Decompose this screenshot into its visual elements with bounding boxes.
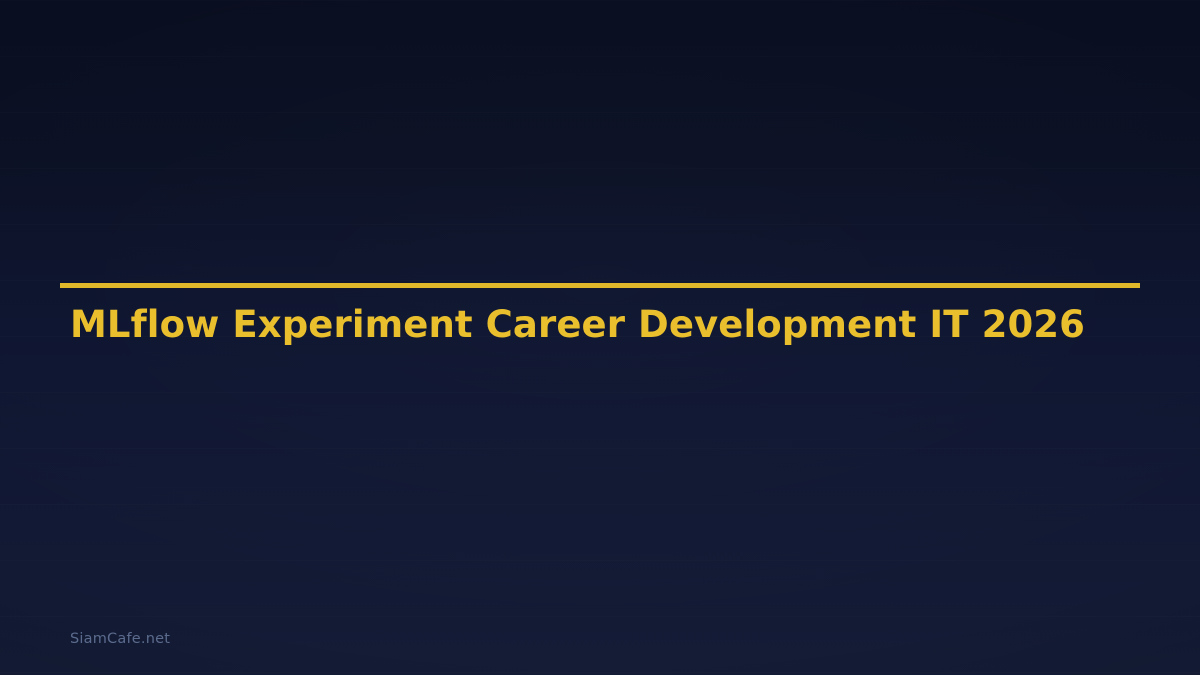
page-title: MLflow Experiment Career Development IT … xyxy=(60,288,1140,347)
title-block: MLflow Experiment Career Development IT … xyxy=(60,283,1140,347)
title-slide: MLflow Experiment Career Development IT … xyxy=(0,0,1200,675)
footer-brand: SiamCafe.net xyxy=(70,629,170,649)
